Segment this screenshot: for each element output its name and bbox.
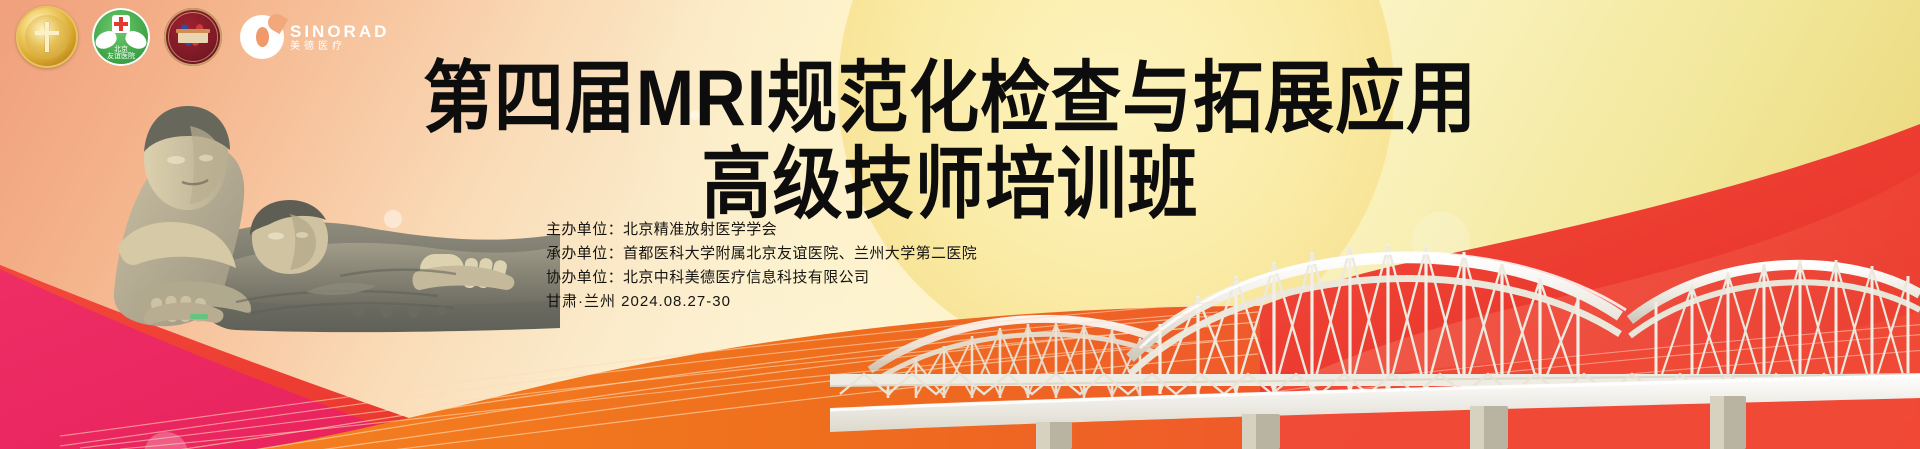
green-dove-cross-icon: 北京 友谊医院 xyxy=(92,8,150,66)
sponsor-logo-bar: 北京 友谊医院 SINORAD 美德医疗 xyxy=(16,6,389,68)
hospital-logo-line1: 北京 xyxy=(107,46,135,53)
conference-banner: 北京 友谊医院 SINORAD 美德医疗 xyxy=(0,0,1920,449)
info-host: 承办单位：首都医科大学附属北京友谊医院、兰州大学第二医院 xyxy=(546,242,977,266)
capital-medical-university-logo[interactable] xyxy=(164,8,222,66)
sinorad-brand-cn: 美德医疗 xyxy=(290,41,389,53)
beijing-friendship-hospital-logo[interactable]: 北京 友谊医院 xyxy=(92,8,150,66)
sinorad-logo[interactable]: SINORAD 美德医疗 xyxy=(240,15,389,59)
gold-medal-logo[interactable] xyxy=(16,6,78,68)
maroon-gate-emblem-icon xyxy=(164,8,222,66)
zhongshan-bridge-illustration xyxy=(830,198,1920,449)
info-venue-date: 甘肃·兰州 2024.08.27-30 xyxy=(546,290,977,314)
sinorad-eye-icon xyxy=(240,15,284,59)
bokeh-dot xyxy=(690,110,700,120)
hospital-logo-line2: 友谊医院 xyxy=(107,53,135,60)
info-organizer: 主办单位：北京精准放射医学学会 xyxy=(546,218,977,242)
gold-cross-medal-icon xyxy=(16,6,78,68)
sinorad-brand-en: SINORAD xyxy=(290,22,389,41)
banner-info-block: 主办单位：北京精准放射医学学会 承办单位：首都医科大学附属北京友谊医院、兰州大学… xyxy=(546,218,977,314)
mogao-buddha-illustration xyxy=(40,96,560,356)
info-coorganizer: 协办单位：北京中科美德医疗信息科技有限公司 xyxy=(546,266,977,290)
